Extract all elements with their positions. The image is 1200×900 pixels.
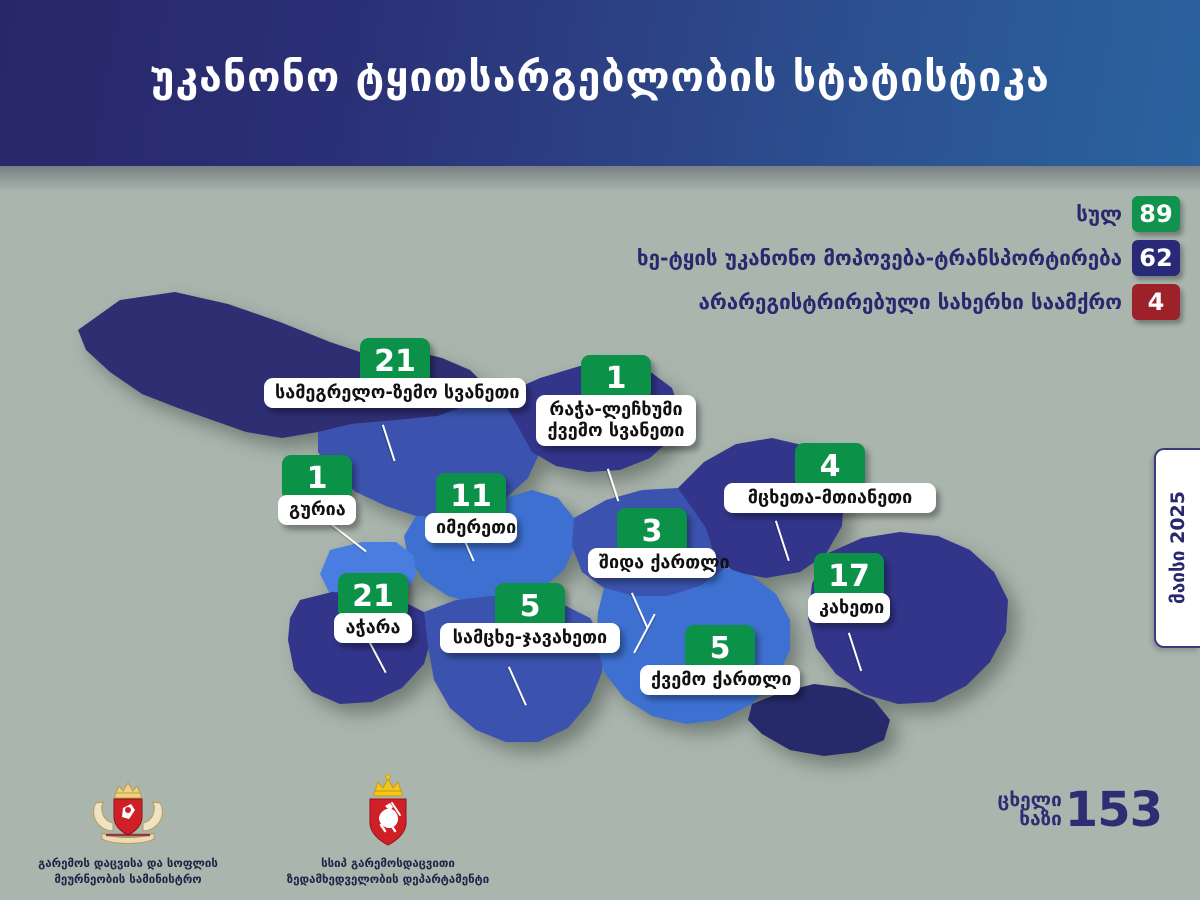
department-coat-of-arms-icon: [357, 773, 419, 849]
legend-item-unregistered-sawmill: არარეგისტრირებული სახერხი საამქრო 4: [637, 284, 1180, 320]
footer-ministry-line1: გარემოს დაცვისა და სოფლის: [18, 855, 238, 872]
region-label-mtskheta-mtianeti: მცხეთა-მთიანეთი: [724, 483, 936, 513]
legend-item-illegal-logging-transport: ხე-ტყის უკანონო მოპოვება-ტრანსპორტირება …: [637, 240, 1180, 276]
region-label-samtskhe-javakheti: სამცხე-ჯავახეთი: [440, 623, 620, 653]
legend-label-unregistered-sawmill: არარეგისტრირებული სახერხი საამქრო: [699, 290, 1122, 314]
region-label-racha-lechkhumi-kvemo-svaneti: რაჭა-ლეჩხუმი ქვემო სვანეთი: [536, 395, 696, 446]
date-tab: მაისი 2025: [1154, 448, 1200, 648]
region-label-shida-kartli: შიდა ქართლი: [588, 548, 716, 578]
region-label-imereti: იმერეთი: [425, 513, 517, 543]
legend-value-unregistered-sawmill: 4: [1132, 284, 1180, 320]
legend-label-total: სულ: [1076, 202, 1122, 226]
marker-samegrelo-zemo-svaneti[interactable]: 21 სამეგრელო-ზემო სვანეთი: [264, 338, 526, 408]
legend: სულ 89 ხე-ტყის უკანონო მოპოვება-ტრანსპორ…: [637, 196, 1180, 328]
marker-imereti[interactable]: 11 იმერეთი: [425, 473, 517, 543]
legend-value-illegal-logging-transport: 62: [1132, 240, 1180, 276]
hotline-number: 153: [1065, 782, 1162, 838]
marker-kvemo-kartli[interactable]: 5 ქვემო ქართლი: [640, 625, 800, 695]
footer-ministry: გარემოს დაცვისა და სოფლის მეურნეობის სამ…: [18, 773, 238, 888]
ministry-coat-of-arms-icon: [82, 773, 174, 849]
region-label-samegrelo-zemo-svaneti: სამეგრელო-ზემო სვანეთი: [264, 378, 526, 408]
marker-shida-kartli[interactable]: 3 შიდა ქართლი: [588, 508, 716, 578]
footer-department-caption: სსიპ გარემოსდაცვითი ზედამხედველობის დეპა…: [268, 855, 508, 888]
legend-value-total: 89: [1132, 196, 1180, 232]
marker-mtskheta-mtianeti[interactable]: 4 მცხეთა-მთიანეთი: [724, 443, 936, 513]
region-label-kakheti: კახეთი: [808, 593, 890, 623]
footer-department-line2: ზედამხედველობის დეპარტამენტი: [268, 871, 508, 888]
infographic-root: უკანონო ტყითსარგებლობის სტატისტიკა სულ 8…: [0, 0, 1200, 900]
marker-guria[interactable]: 1 გურია: [278, 455, 356, 525]
marker-adjara[interactable]: 21 აჭარა: [334, 573, 412, 643]
legend-item-total: სულ 89: [637, 196, 1180, 232]
hotline-words: ცხელი ხაზი: [998, 791, 1062, 830]
region-label-kvemo-kartli: ქვემო ქართლი: [640, 665, 800, 695]
page-title: უკანონო ტყითსარგებლობის სტატისტიკა: [150, 53, 1050, 101]
marker-kakheti[interactable]: 17 კახეთი: [808, 553, 890, 623]
hotline: ცხელი ხაზი 153: [998, 782, 1162, 838]
footer-ministry-line2: მეურნეობის სამინისტრო: [18, 871, 238, 888]
footer-department-line1: სსიპ გარემოსდაცვითი: [268, 855, 508, 872]
marker-racha-lechkhumi-kvemo-svaneti[interactable]: 1 რაჭა-ლეჩხუმი ქვემო სვანეთი: [536, 355, 696, 446]
marker-samtskhe-javakheti[interactable]: 5 სამცხე-ჯავახეთი: [440, 583, 620, 653]
region-label-guria: გურია: [278, 495, 356, 525]
region-label-adjara: აჭარა: [334, 613, 412, 643]
footer-ministry-caption: გარემოს დაცვისა და სოფლის მეურნეობის სამ…: [18, 855, 238, 888]
footer-department: სსიპ გარემოსდაცვითი ზედამხედველობის დეპა…: [268, 773, 508, 888]
date-tab-label: მაისი 2025: [1167, 491, 1189, 604]
legend-label-illegal-logging-transport: ხე-ტყის უკანონო მოპოვება-ტრანსპორტირება: [637, 246, 1122, 270]
header-banner: უკანონო ტყითსარგებლობის სტატისტიკა: [0, 0, 1200, 166]
hotline-line2: ხაზი: [998, 810, 1062, 829]
